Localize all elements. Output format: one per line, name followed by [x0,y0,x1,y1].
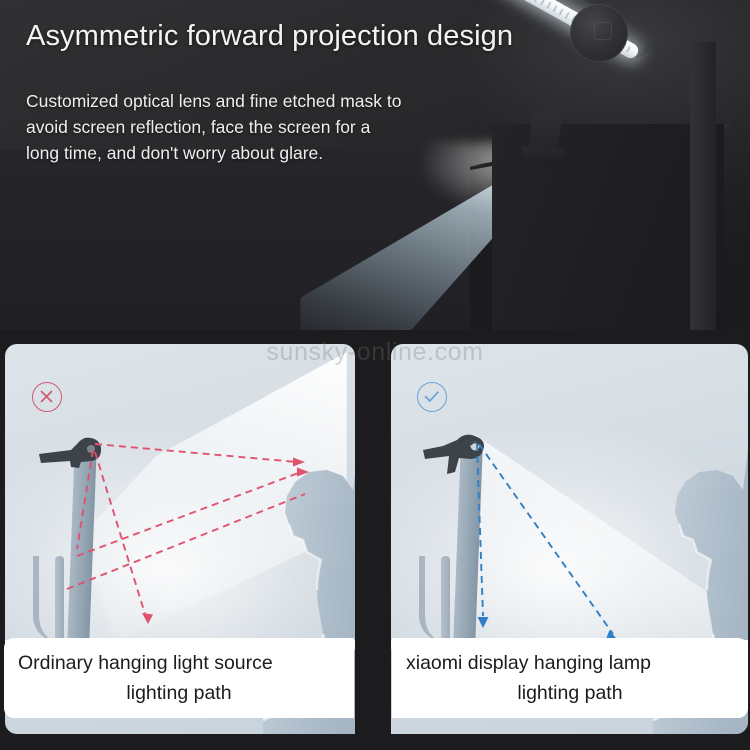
comparison-section: Ordinary hanging light source lighting p… [0,330,750,750]
ordinary-lamp-silhouette [37,430,127,470]
hero-description-line-1: Customized optical lens and fine etched … [26,88,496,114]
caption-ordinary-line-2: lighting path [18,678,340,708]
page-title: Asymmetric forward projection design [26,20,513,53]
caption-ordinary: Ordinary hanging light source lighting p… [4,638,354,718]
product-feature-page: Asymmetric forward projection design Cus… [0,0,750,750]
monitor-stand-foot [33,556,69,642]
caption-xiaomi: xiaomi display hanging lamp lighting pat… [392,638,748,718]
hero-section: Asymmetric forward projection design Cus… [0,0,750,344]
circle-x-icon [32,382,62,412]
knob-logo-icon [594,22,612,40]
caption-xiaomi-line-1: xiaomi display hanging lamp [406,648,734,678]
monitor-right-edge [690,42,716,344]
caption-xiaomi-line-2: lighting path [406,678,734,708]
hero-description-line-2: avoid screen reflection, face the screen… [26,114,496,140]
monitor-stand-foot [419,556,455,642]
hero-description: Customized optical lens and fine etched … [26,88,496,166]
xiaomi-lamp-silhouette [421,428,511,476]
caption-ordinary-line-1: Ordinary hanging light source [18,648,340,678]
circle-check-icon [417,382,447,412]
hero-description-line-3: long time, and don't worry about glare. [26,140,496,166]
